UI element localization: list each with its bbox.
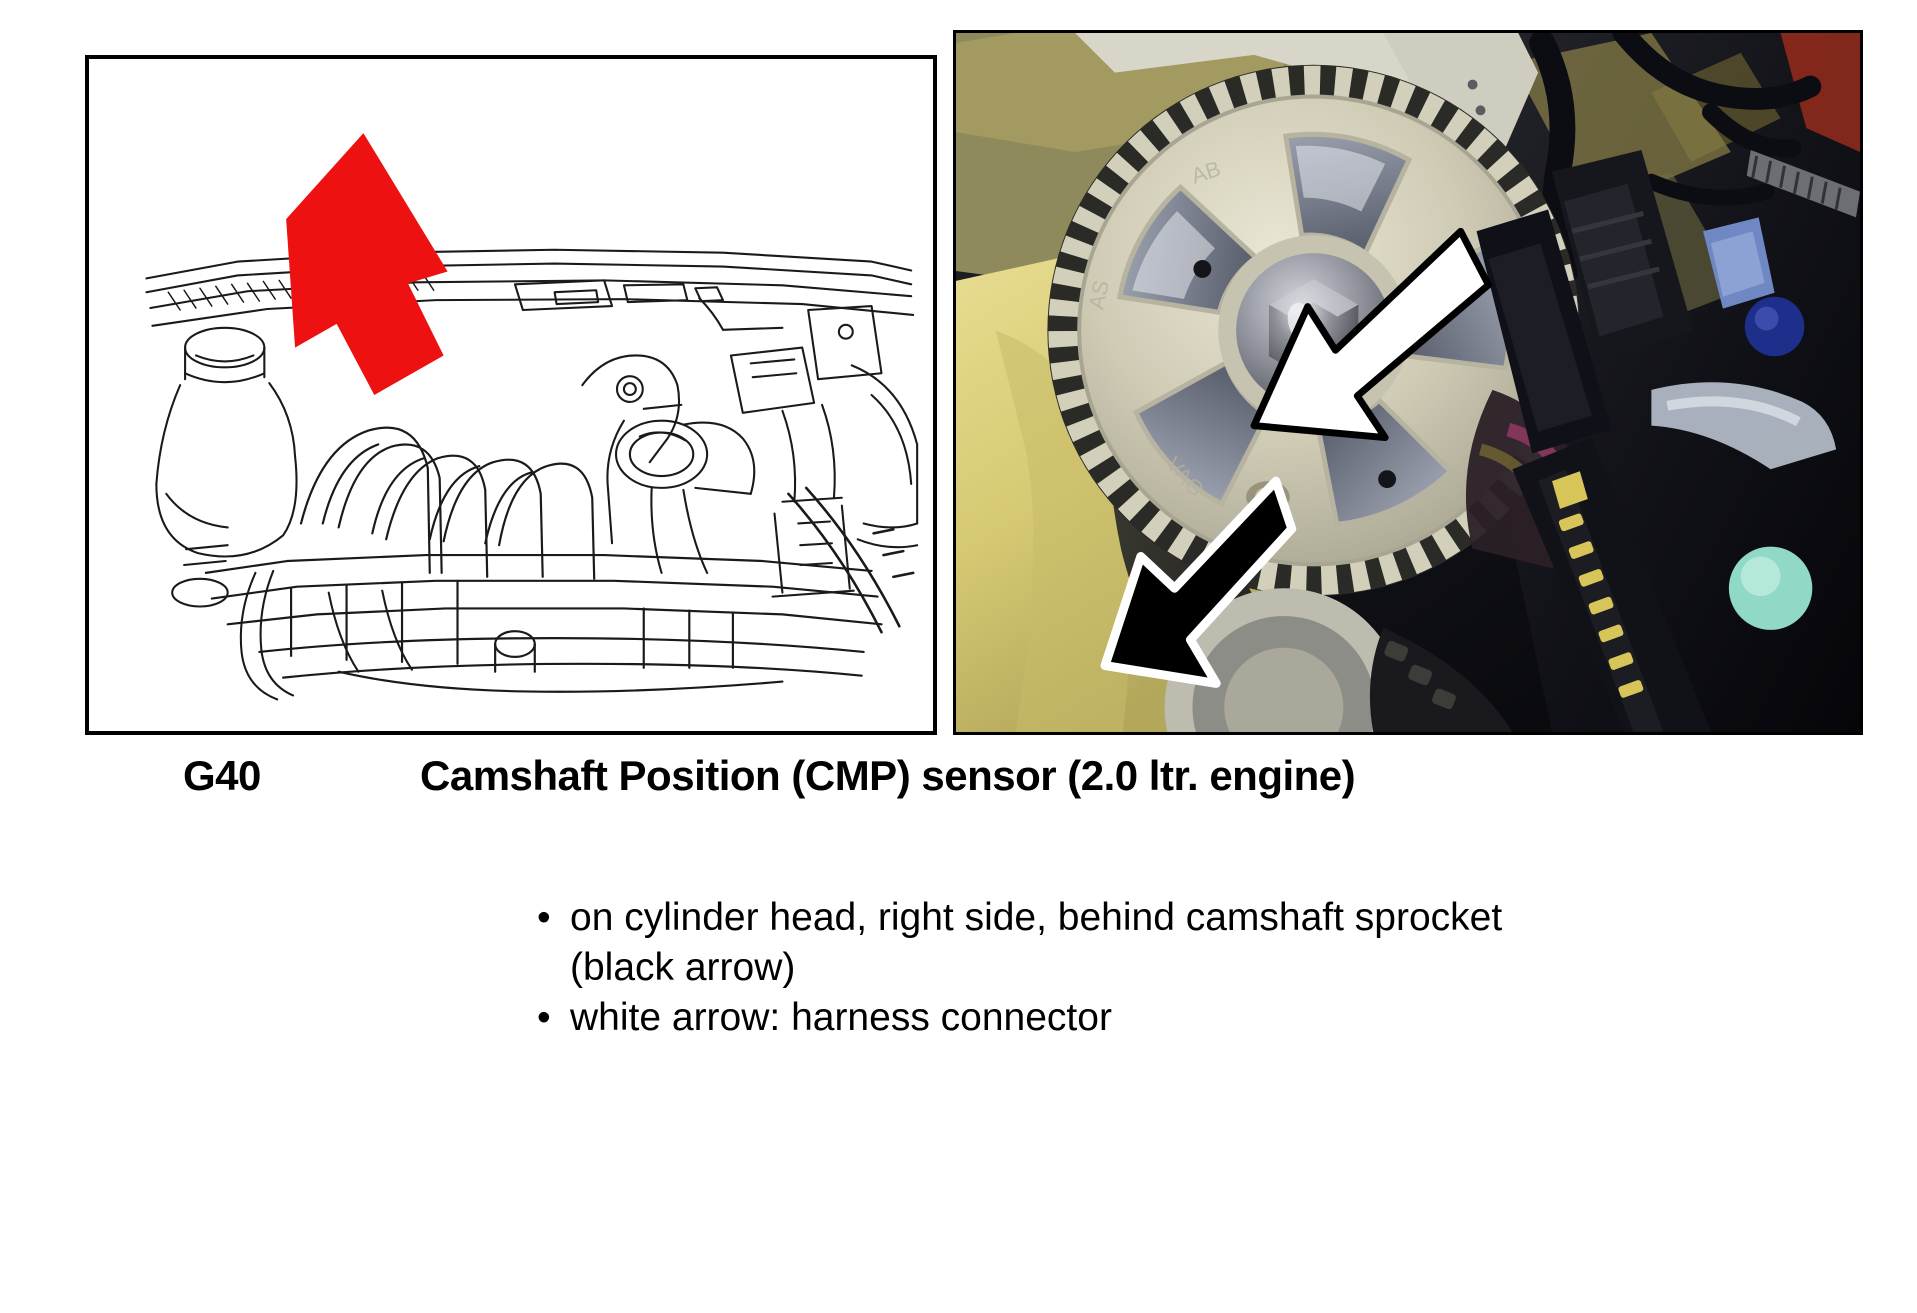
list-item: • on cylinder head, right side, behind c… bbox=[537, 893, 1737, 993]
diagram-inner bbox=[89, 59, 933, 731]
caption-component-code: G40 bbox=[183, 752, 261, 800]
bullet-glyph: • bbox=[537, 893, 551, 943]
bullet-glyph: • bbox=[537, 993, 551, 1043]
engine-bay-diagram-panel bbox=[85, 55, 937, 735]
notes-bullet-list: • on cylinder head, right side, behind c… bbox=[537, 893, 1737, 1043]
engine-bay-line-drawing bbox=[89, 59, 933, 731]
photo-inner: AB AS VAG bbox=[956, 33, 1860, 732]
figure-panels: AB AS VAG bbox=[0, 0, 1917, 745]
note-text: on cylinder head, right side, behind cam… bbox=[570, 893, 1737, 993]
caption-component-title: Camshaft Position (CMP) sensor (2.0 ltr.… bbox=[420, 752, 1355, 800]
figure-caption: G40 Camshaft Position (CMP) sensor (2.0 … bbox=[0, 752, 1917, 814]
camshaft-sprocket-photo-panel: AB AS VAG bbox=[953, 30, 1863, 735]
note-text: white arrow: harness connector bbox=[570, 993, 1737, 1043]
list-item: • white arrow: harness connector bbox=[537, 993, 1737, 1043]
camshaft-sprocket-photo: AB AS VAG bbox=[956, 33, 1860, 732]
